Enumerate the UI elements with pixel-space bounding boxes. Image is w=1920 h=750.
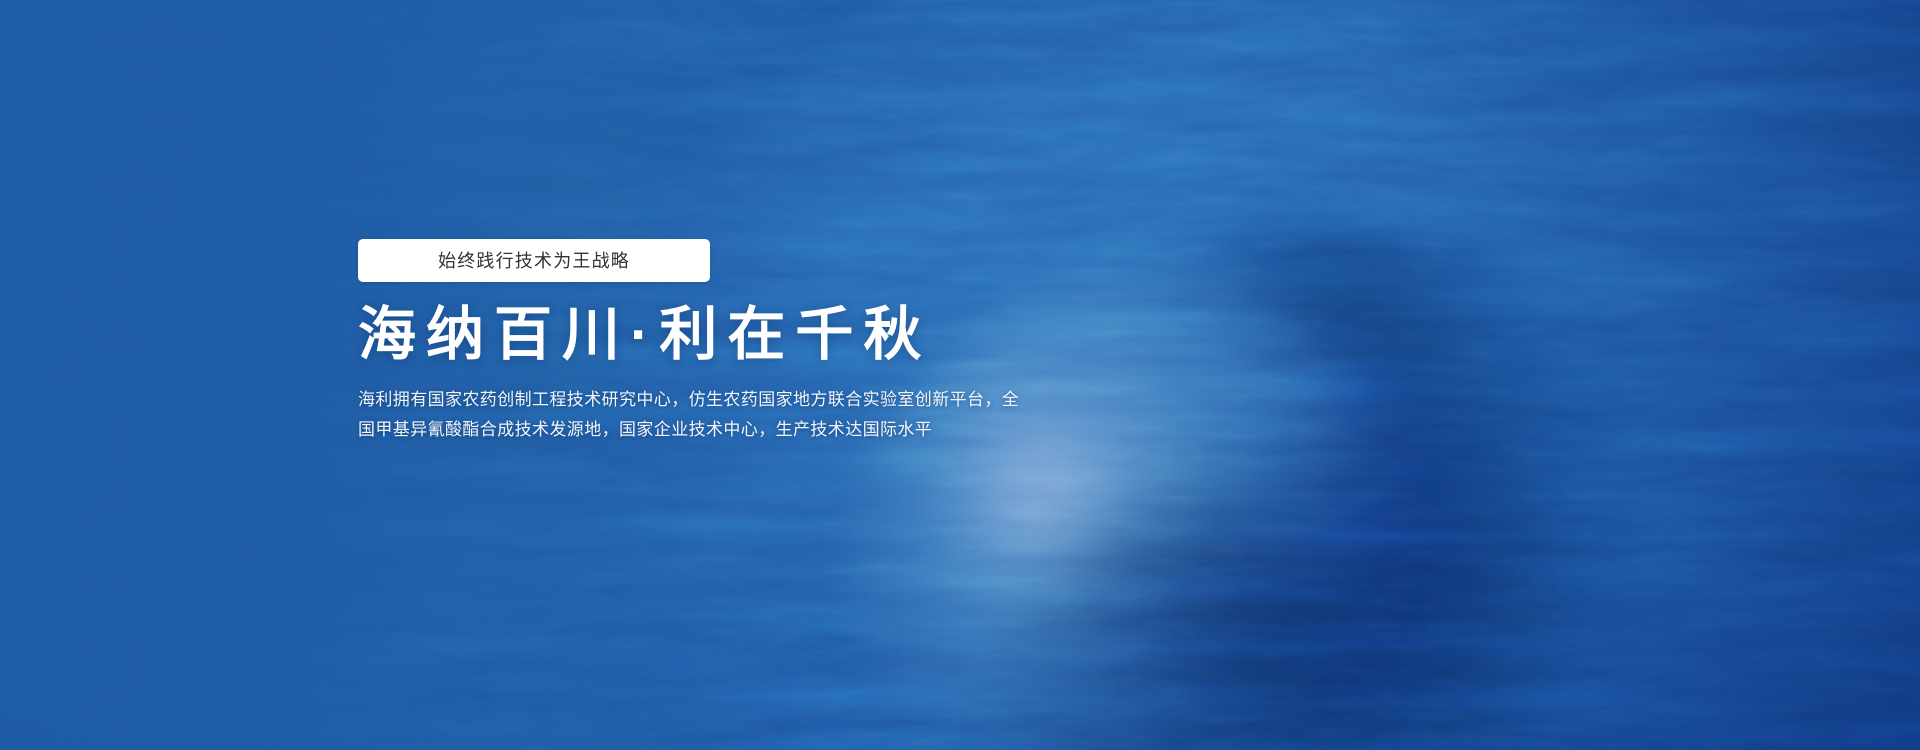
strategy-badge: 始终践行技术为王战略 bbox=[358, 239, 710, 282]
hero-banner: 始终践行技术为王战略 海纳百川·利在千秋 海利拥有国家农药创制工程技术研究中心，… bbox=[0, 0, 1920, 750]
hero-headline: 海纳百川·利在千秋 bbox=[358, 305, 1033, 365]
hero-content: 始终践行技术为王战略 海纳百川·利在千秋 海利拥有国家农药创制工程技术研究中心，… bbox=[358, 239, 1033, 445]
hero-description: 海利拥有国家农药创制工程技术研究中心，仿生农药国家地方联合实验室创新平台，全国甲… bbox=[358, 385, 1033, 445]
